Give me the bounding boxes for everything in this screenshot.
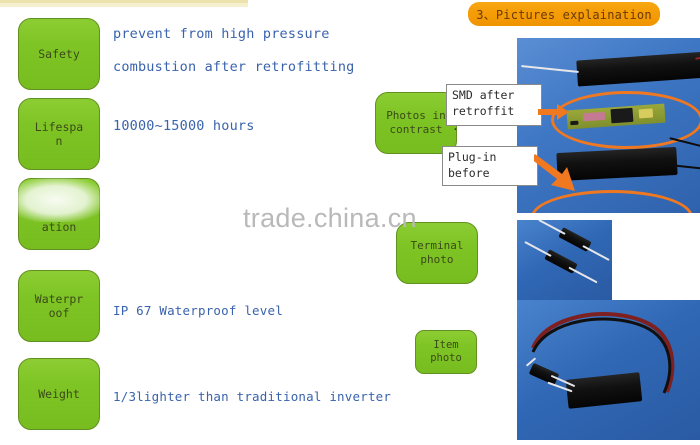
- photo-chip-item-label: Item photo: [426, 339, 466, 365]
- callout-plug-label: Plug-in before: [448, 150, 496, 180]
- product-feature-sheet: Safety Lifespa n ation Waterpr oof Weigh…: [0, 0, 700, 445]
- feature-chip-weight-label: Weight: [34, 387, 84, 401]
- photo-terminal: [517, 220, 612, 300]
- callout-smd-label: SMD after retroffit .: [452, 88, 514, 133]
- arrow-smd-icon: [538, 103, 570, 121]
- photo-item: [517, 300, 700, 440]
- section-header-label: 3、Pictures explaination: [476, 6, 652, 23]
- feature-chip-lifespan[interactable]: Lifespa n: [18, 98, 100, 170]
- feature-chip-installation[interactable]: ation: [18, 178, 100, 250]
- callout-smd-after-retrofit: SMD after retroffit .: [446, 84, 542, 126]
- photo-chip-terminal-label: Terminal photo: [407, 239, 468, 267]
- feature-chip-waterproof-label: Waterpr oof: [31, 292, 87, 321]
- feature-text-safety-line1: prevent from high pressure: [113, 26, 330, 42]
- feature-text-safety-line2: combustion after retrofitting: [113, 59, 355, 75]
- feature-chip-weight[interactable]: Weight: [18, 358, 100, 430]
- photo-chip-item[interactable]: Item photo: [415, 330, 477, 374]
- feature-chip-safety-label: Safety: [34, 47, 84, 61]
- feature-text-weight: 1/3lighter than traditional inverter: [113, 389, 391, 404]
- feature-chip-waterproof[interactable]: Waterpr oof: [18, 270, 100, 342]
- section-header-pictures: 3、Pictures explaination: [468, 2, 660, 26]
- feature-chip-safety[interactable]: Safety: [18, 18, 100, 90]
- top-yellow-band-accent: [0, 0, 248, 3]
- feature-chip-installation-label: ation: [38, 220, 81, 234]
- callout-plug-in-before: Plug-in before: [442, 146, 538, 186]
- watermark: trade.china.cn: [243, 203, 417, 234]
- feature-text-waterproof: IP 67 Waterproof level: [113, 303, 283, 318]
- arrow-plugin-icon: [534, 152, 580, 194]
- feature-chip-lifespan-label: Lifespa n: [31, 120, 87, 149]
- photo-chip-contrast[interactable]: Photos in contrast: [375, 92, 457, 154]
- photo-chip-contrast-label: Photos in contrast: [382, 109, 450, 137]
- feature-text-lifespan: 10000~15000 hours: [113, 118, 255, 134]
